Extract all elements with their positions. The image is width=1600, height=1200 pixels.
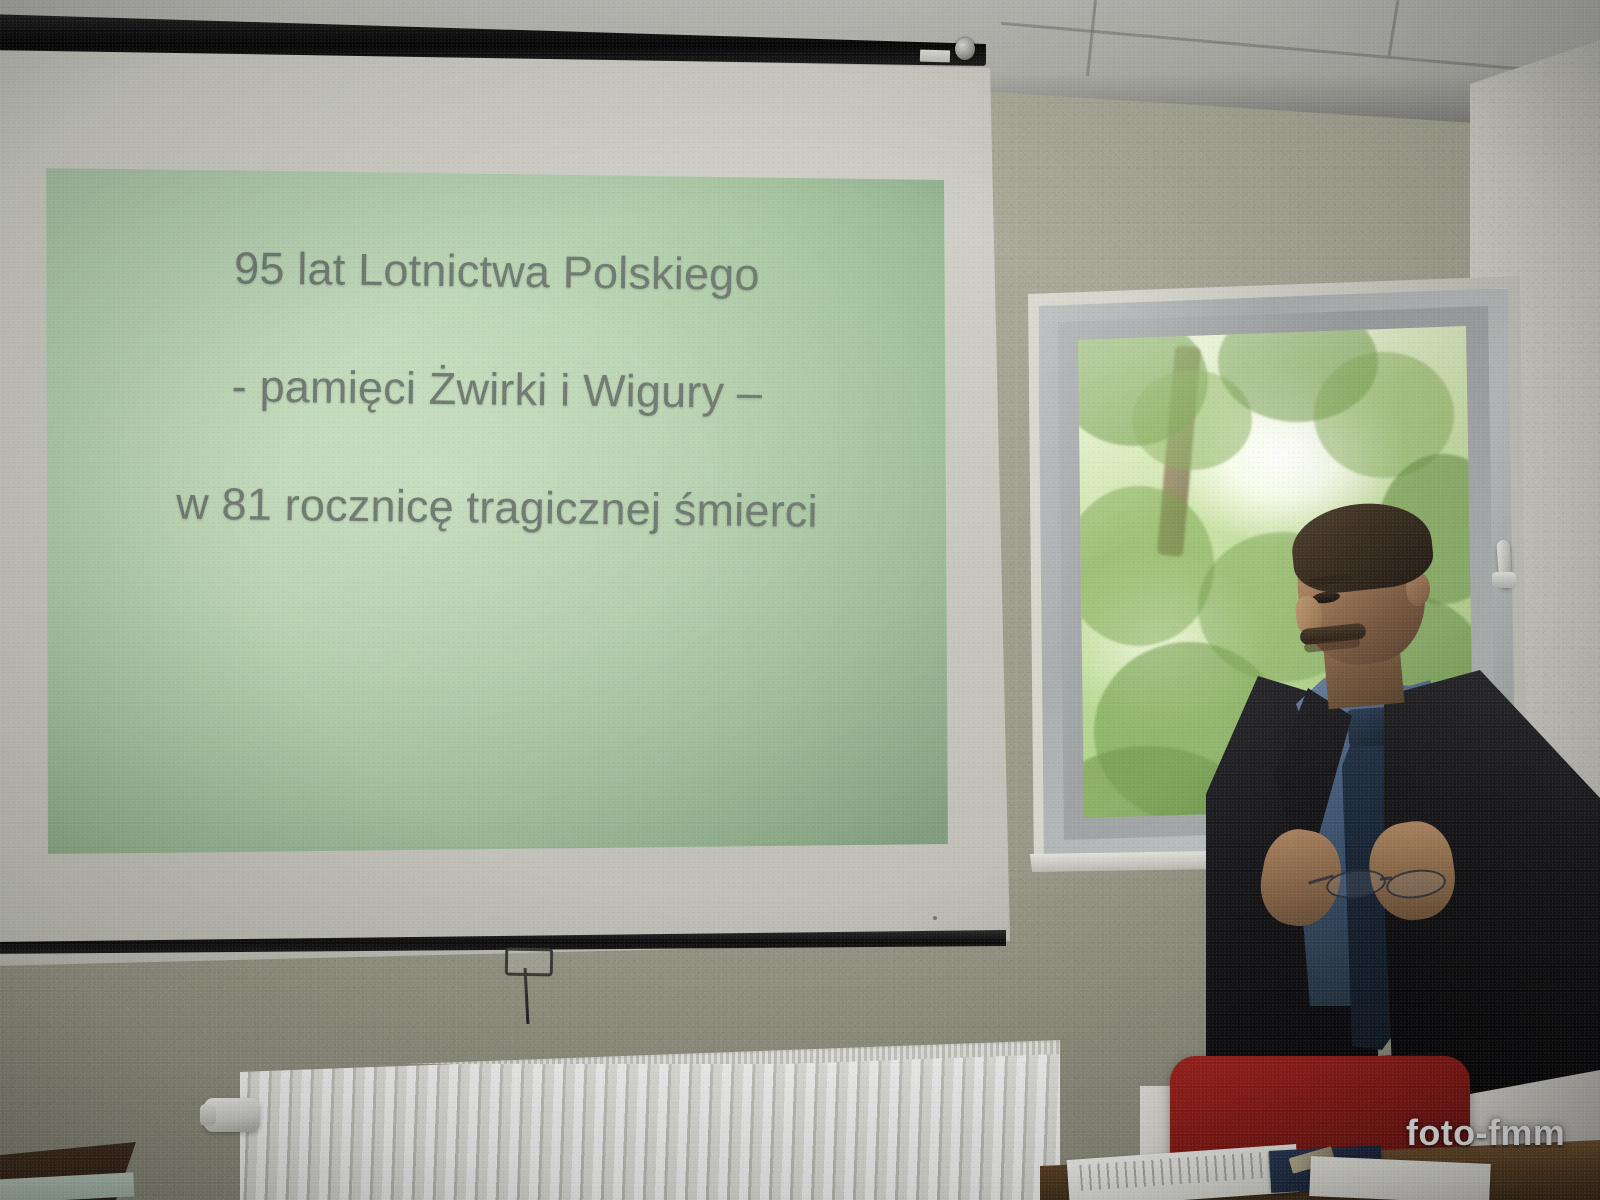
- radiator-valve-cap: [200, 1104, 216, 1126]
- eyeglasses: [1308, 868, 1464, 896]
- roller-brand-label: [920, 50, 950, 63]
- slide-line-1: 95 lat Lotnictwa Polskiego: [46, 240, 949, 303]
- photo-watermark: foto-fmm: [1406, 1112, 1565, 1154]
- projection-screen[interactable]: 95 lat Lotnictwa Polskiego - pamięci Żwi…: [0, 0, 1060, 1010]
- photo-scene: 95 lat Lotnictwa Polskiego - pamięci Żwi…: [0, 0, 1600, 1200]
- screen-pull-handle[interactable]: [505, 948, 553, 977]
- slide-line-2: - pamięci Żwirki i Wigury –: [46, 358, 949, 421]
- slide-text-block: 95 lat Lotnictwa Polskiego - pamięci Żwi…: [46, 168, 948, 854]
- screen-blemish: [933, 916, 937, 920]
- paper-sheet: [1309, 1156, 1491, 1200]
- slide-line-3: w 81 rocznicę tragicznej śmierci: [46, 476, 949, 539]
- roller-end-cap: [955, 38, 975, 60]
